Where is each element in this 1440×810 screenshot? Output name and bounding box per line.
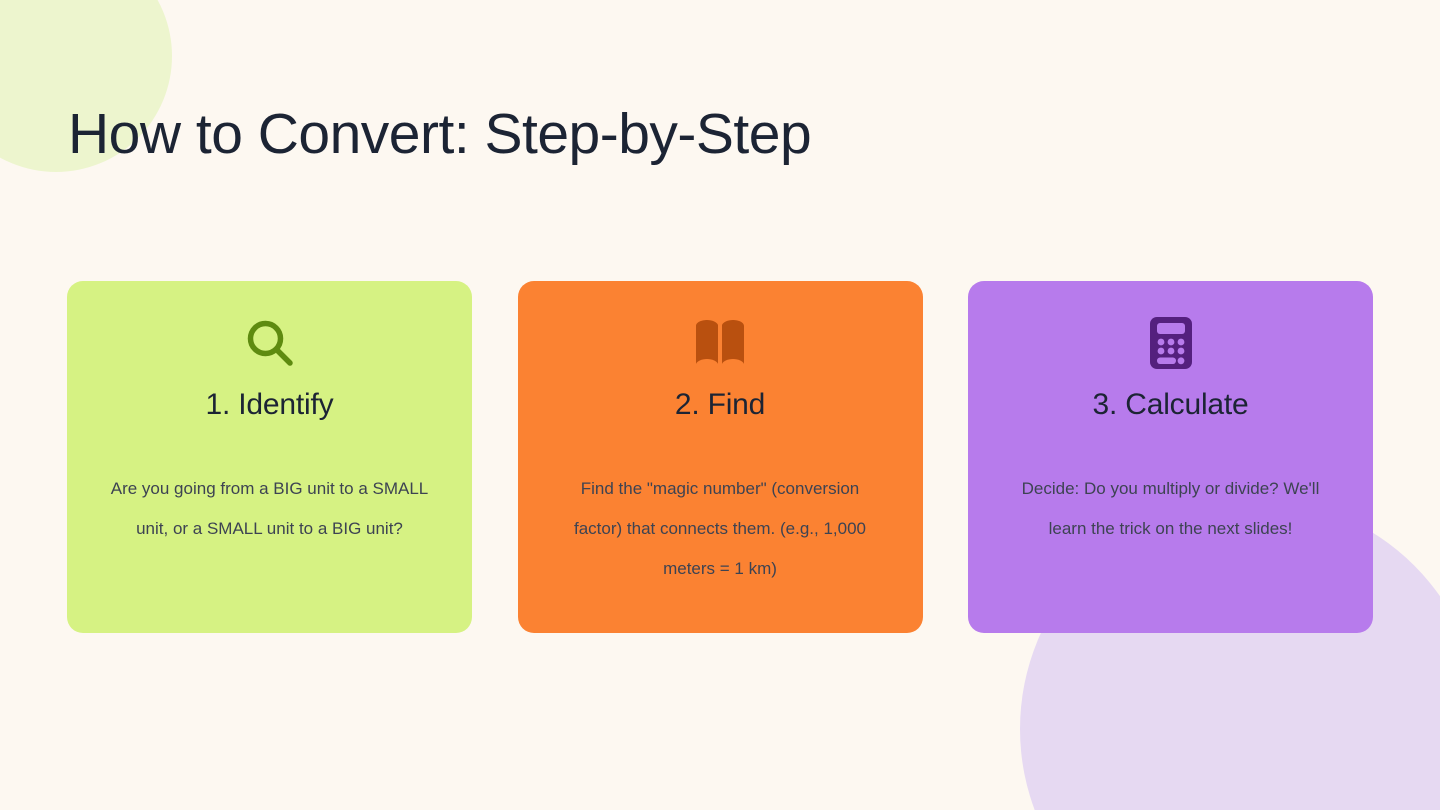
step-card-body: Are you going from a BIG unit to a SMALL… [105,469,435,549]
step-card-identify[interactable]: 1. Identify Are you going from a BIG uni… [67,281,472,633]
step-card-heading: 3. Calculate [1092,387,1248,423]
step-card-body: Decide: Do you multiply or divide? We'll… [1006,469,1336,549]
step-card-heading: 1. Identify [206,387,334,423]
step-card-heading: 2. Find [675,387,765,423]
page-title: How to Convert: Step-by-Step [68,102,811,168]
step-card-find[interactable]: 2. Find Find the "magic number" (convers… [518,281,923,633]
calculator-icon [1149,315,1193,371]
step-card-body: Find the "magic number" (conversion fact… [555,469,885,589]
open-book-icon [693,315,747,371]
magnifier-icon [244,315,296,371]
slide-canvas: How to Convert: Step-by-Step 1. Identify… [0,0,1440,810]
step-card-row: 1. Identify Are you going from a BIG uni… [67,281,1373,633]
step-card-calculate[interactable]: 3. Calculate Decide: Do you multiply or … [968,281,1373,633]
